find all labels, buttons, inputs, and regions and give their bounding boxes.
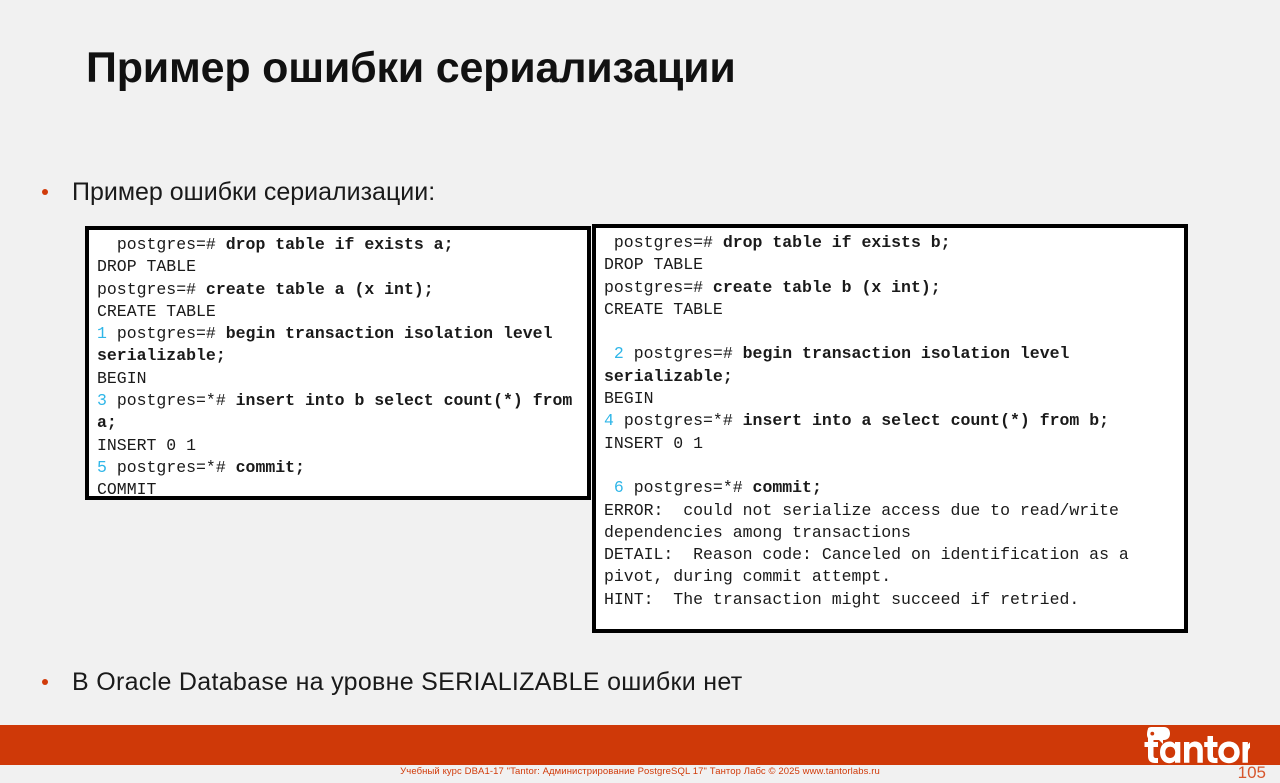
code-output: BEGIN [97, 369, 147, 388]
code-prompt: postgres=*# [634, 478, 753, 497]
code-prompt: postgres=*# [624, 411, 743, 430]
code-command: drop table if exists a; [226, 235, 454, 254]
code-line: DROP TABLE [97, 256, 581, 278]
code-prompt: postgres=# [117, 324, 226, 343]
code-line-number: 3 [97, 391, 117, 410]
code-output: DROP TABLE [97, 257, 196, 276]
bullet-item-bottom: В Oracle Database на уровне SERIALIZABLE… [42, 668, 743, 697]
code-line: HINT: The transaction might succeed if r… [604, 589, 1178, 611]
footer-accent-bar [0, 725, 1280, 765]
code-line: DETAIL: Reason code: Canceled on identif… [604, 544, 1178, 589]
code-line: COMMIT [97, 479, 581, 500]
code-line [604, 455, 1178, 477]
code-line: CREATE TABLE [97, 301, 581, 323]
code-panel-session-1: postgres=# drop table if exists a;DROP T… [85, 226, 591, 500]
code-line-number: 2 [604, 344, 634, 363]
code-line: CREATE TABLE [604, 299, 1178, 321]
code-output: DETAIL: Reason code: Canceled on identif… [604, 545, 1139, 586]
code-output: ERROR: could not serialize access due to… [604, 501, 1129, 542]
code-prompt: postgres=# [97, 280, 206, 299]
code-command: drop table if exists b; [723, 233, 951, 252]
code-prompt: postgres=# [604, 278, 713, 297]
code-prompt: postgres=# [97, 235, 226, 254]
code-output: INSERT 0 1 [604, 434, 703, 453]
code-line: BEGIN [604, 388, 1178, 410]
code-line: DROP TABLE [604, 254, 1178, 276]
code-line: ERROR: could not serialize access due to… [604, 500, 1178, 545]
code-command: create table b (x int); [713, 278, 941, 297]
code-prompt: postgres=*# [117, 391, 236, 410]
slide-root: Пример ошибки сериализации Пример ошибки… [0, 0, 1280, 781]
bullet-dot-icon [42, 189, 48, 195]
code-line-number: 1 [97, 324, 117, 343]
code-output: CREATE TABLE [604, 300, 723, 319]
footer-copyright-note: Учебный курс DBA1-17 "Tantor: Администри… [0, 766, 1280, 777]
bullet-top-label: Пример ошибки сериализации: [72, 178, 435, 207]
code-output: HINT: The transaction might succeed if r… [604, 590, 1079, 609]
bullet-bottom-label: В Oracle Database на уровне SERIALIZABLE… [72, 668, 743, 697]
code-prompt: postgres=# [604, 233, 723, 252]
code-line: postgres=# create table a (x int); [97, 279, 581, 301]
code-line: BEGIN [97, 368, 581, 390]
code-output: BEGIN [604, 389, 654, 408]
bullet-dot-icon [42, 679, 48, 685]
code-command: insert into a select count(*) from b; [743, 411, 1109, 430]
code-line: 6 postgres=*# commit; [604, 477, 1178, 499]
code-line: postgres=# create table b (x int); [604, 277, 1178, 299]
bullet-item-top: Пример ошибки сериализации: [42, 178, 435, 207]
code-line: 3 postgres=*# insert into b select count… [97, 390, 581, 435]
code-line: 1 postgres=# begin transaction isolation… [97, 323, 581, 368]
code-command: commit; [236, 458, 305, 477]
code-line: postgres=# drop table if exists a; [97, 234, 581, 256]
code-line: INSERT 0 1 [97, 435, 581, 457]
code-line-number: 5 [97, 458, 117, 477]
tantor-logo [1138, 727, 1250, 765]
code-line [604, 321, 1178, 343]
code-prompt: postgres=# [634, 344, 743, 363]
code-line-number: 6 [604, 478, 634, 497]
code-output: DROP TABLE [604, 255, 703, 274]
code-command: commit; [753, 478, 822, 497]
code-line: 4 postgres=*# insert into a select count… [604, 410, 1178, 432]
code-line: 5 postgres=*# commit; [97, 457, 581, 479]
code-line-number: 4 [604, 411, 624, 430]
code-command: create table a (x int); [206, 280, 434, 299]
code-output: CREATE TABLE [97, 302, 216, 321]
code-line: postgres=# drop table if exists b; [604, 232, 1178, 254]
code-output: COMMIT [97, 480, 156, 499]
code-panel-session-2: postgres=# drop table if exists b;DROP T… [592, 224, 1188, 633]
page-title: Пример ошибки сериализации [86, 44, 736, 93]
page-number: 105 [1238, 763, 1266, 783]
code-line: 2 postgres=# begin transaction isolation… [604, 343, 1178, 388]
code-line: INSERT 0 1 [604, 433, 1178, 455]
code-prompt: postgres=*# [117, 458, 236, 477]
code-output: INSERT 0 1 [97, 436, 196, 455]
